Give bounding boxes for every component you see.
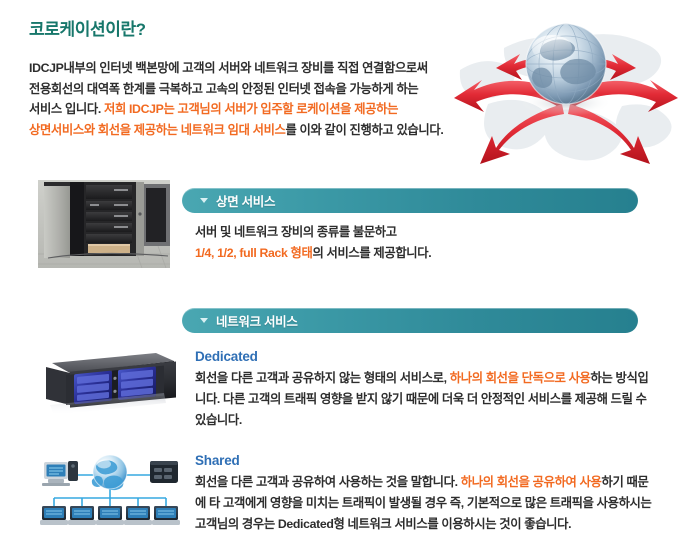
intro-section: 코로케이션이란? IDCJP내부의 인터넷 백본망에 고객의 서버와 네트워크 … (0, 0, 680, 175)
section-header-network[interactable]: 네트워크 서비스 (182, 308, 638, 333)
shared-text-highlight: 하나의 회선을 공유하여 사용 (461, 475, 602, 489)
section-body-dedicated: Dedicated 회선을 다른 고객과 공유하지 않는 형태의 서비스로, 하… (195, 346, 655, 431)
colocation-line-2-rest: 의 서비스를 제공합니다. (312, 246, 431, 260)
section-header-colocation[interactable]: 상면 서비스 (182, 188, 638, 213)
intro-line-3-prefix: 서비스 입니다. (29, 102, 104, 116)
dedicated-paragraph: 회선을 다른 고객과 공유하지 않는 형태의 서비스로, 하나의 회선을 단독으… (195, 368, 655, 431)
intro-line-4-highlight: 상면서비스와 회선을 제공하는 네트워크 임대 서비스 (29, 123, 286, 137)
intro-line-4-suffix: 를 이와 같이 진행하고 있습니다. (286, 123, 444, 137)
intro-line-1: IDCJP내부의 인터넷 백본망에 고객의 서버와 네트워크 장비를 직접 연결… (29, 61, 428, 75)
section-body-shared: Shared 회선을 다른 고객과 공유하여 사용하는 것을 말합니다. 하나의… (195, 450, 655, 535)
section-body-colocation: 서버 및 네트워크 장비의 종류를 불문하고 1/4, 1/2, full Ra… (195, 222, 655, 264)
shared-text-1: 회선을 다른 고객과 공유하여 사용하는 것을 말합니다. (195, 475, 461, 489)
page-title: 코로케이션이란? (29, 15, 146, 40)
chevron-down-icon (200, 318, 208, 323)
intro-paragraph: IDCJP내부의 인터넷 백본망에 고객의 서버와 네트워크 장비를 직접 연결… (29, 58, 459, 140)
intro-line-2: 전용회선의 대역폭 한계를 극복하고 고속의 안정된 인터넷 접속을 가능하게 … (29, 82, 418, 96)
laptop-nodes (40, 506, 180, 525)
globe-node (92, 455, 127, 490)
server-node (150, 461, 178, 483)
intro-line-3-highlight: 저희 IDCJP는 고객님의 서버가 입주할 로케이션을 제공하는 (104, 102, 398, 116)
dedicated-text-1: 회선을 다른 고객과 공유하지 않는 형태의 서비스로, (195, 371, 450, 385)
server-rack-photo (38, 180, 170, 268)
colocation-line-2: 1/4, 1/2, full Rack 형태의 서비스를 제공합니다. (195, 243, 655, 264)
colocation-line-2-highlight: 1/4, 1/2, full Rack 형태 (195, 246, 312, 260)
globe-highlight (532, 35, 572, 61)
dedicated-text-highlight: 하나의 회선을 단독으로 사용 (450, 371, 591, 385)
network-topology-diagram (38, 448, 183, 530)
globe-with-red-arrows-graphic (452, 8, 680, 170)
rackmount-server-photo (38, 347, 178, 419)
shared-paragraph: 회선을 다른 고객과 공유하여 사용하는 것을 말합니다. 하나의 회선을 공유… (195, 472, 655, 535)
sub-heading-dedicated: Dedicated (195, 346, 655, 367)
chevron-down-icon (200, 198, 208, 203)
section-header-label-colocation: 상면 서비스 (216, 191, 275, 210)
colocation-line-1: 서버 및 네트워크 장비의 종류를 불문하고 (195, 222, 655, 243)
section-header-label-network: 네트워크 서비스 (216, 311, 298, 330)
sub-heading-shared: Shared (195, 450, 655, 471)
